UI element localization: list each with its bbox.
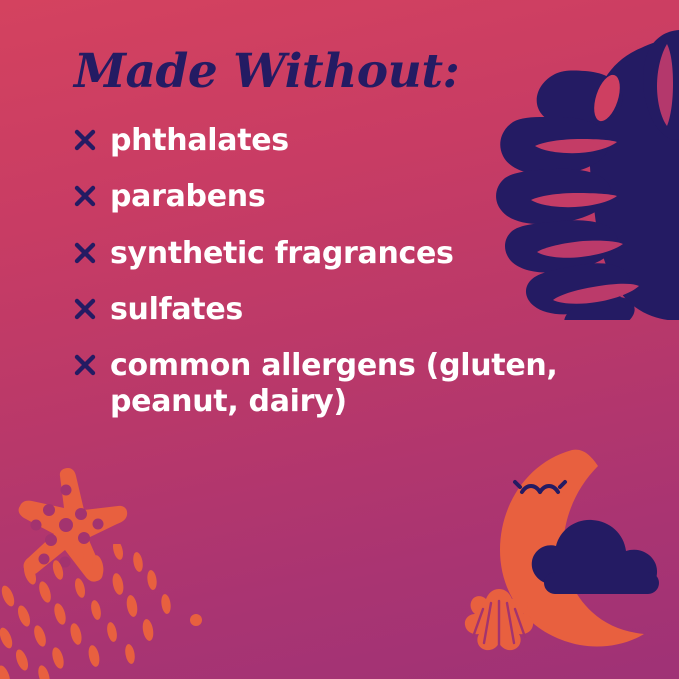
page-title: Made Without: (74, 48, 619, 97)
list-item-label: parabens (110, 179, 265, 214)
x-mark-icon (74, 242, 96, 264)
list-item-label: phthalates (110, 123, 289, 158)
made-without-list: phthalates parabens (74, 123, 619, 419)
starfish-icon (2, 462, 132, 587)
list-item: common allergens (gluten, peanut, dairy) (74, 348, 619, 419)
x-mark-icon (74, 185, 96, 207)
list-item-label: synthetic fragrances (110, 236, 454, 271)
raindrop-pattern-icon (0, 544, 230, 679)
list-item: sulfates (74, 292, 619, 327)
list-item: synthetic fragrances (74, 236, 619, 271)
list-item: parabens (74, 179, 619, 214)
content-block: Made Without: phthalates (74, 48, 619, 419)
crescent-moon-cloud-icon (484, 446, 679, 651)
x-mark-icon (74, 354, 96, 376)
x-mark-icon (74, 129, 96, 151)
seashell-icon (460, 585, 538, 657)
x-mark-icon (74, 298, 96, 320)
poster-canvas: Made Without: phthalates (0, 0, 679, 679)
list-item-label: common allergens (gluten, peanut, dairy) (110, 348, 580, 419)
list-item: phthalates (74, 123, 619, 158)
list-item-label: sulfates (110, 292, 243, 327)
